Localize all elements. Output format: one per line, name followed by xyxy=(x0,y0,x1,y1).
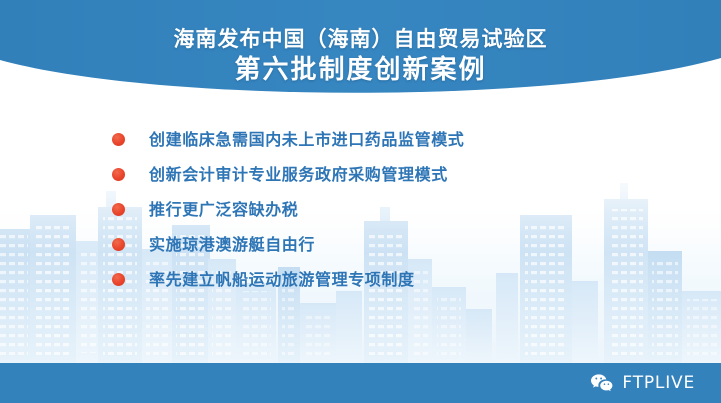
brand-label: FTPLIVE xyxy=(622,373,695,393)
dot-icon xyxy=(112,273,125,286)
header-band: 海南发布中国（海南）自由贸易试验区 第六批制度创新案例 xyxy=(0,0,721,100)
list-item: 创建临床急需国内未上市进口药品监管模式 xyxy=(112,122,672,157)
header-curve-shape xyxy=(0,0,721,100)
wechat-icon xyxy=(590,373,614,393)
dot-icon xyxy=(112,168,125,181)
list-item: 推行更广泛容缺办税 xyxy=(112,192,672,227)
poster-canvas: 海南发布中国（海南）自由贸易试验区 第六批制度创新案例 创建临床急需国内未上市进… xyxy=(0,0,721,403)
dot-icon xyxy=(112,238,125,251)
list-item-label: 创建临床急需国内未上市进口药品监管模式 xyxy=(149,130,464,150)
list-item: 实施琼港澳游艇自由行 xyxy=(112,227,672,262)
footer-bar: FTPLIVE xyxy=(0,363,721,403)
list-item-label: 实施琼港澳游艇自由行 xyxy=(149,235,315,255)
list-item-label: 率先建立帆船运动旅游管理专项制度 xyxy=(149,270,415,290)
brand-watermark: FTPLIVE xyxy=(590,373,695,393)
dot-icon xyxy=(112,133,125,146)
list-item: 创新会计审计专业服务政府采购管理模式 xyxy=(112,157,672,192)
list-item-label: 推行更广泛容缺办税 xyxy=(149,200,298,220)
list-item: 率先建立帆船运动旅游管理专项制度 xyxy=(112,262,672,297)
list-item-label: 创新会计审计专业服务政府采购管理模式 xyxy=(149,165,448,185)
dot-icon xyxy=(112,203,125,216)
innovation-case-list: 创建临床急需国内未上市进口药品监管模式 创新会计审计专业服务政府采购管理模式 推… xyxy=(112,122,672,297)
